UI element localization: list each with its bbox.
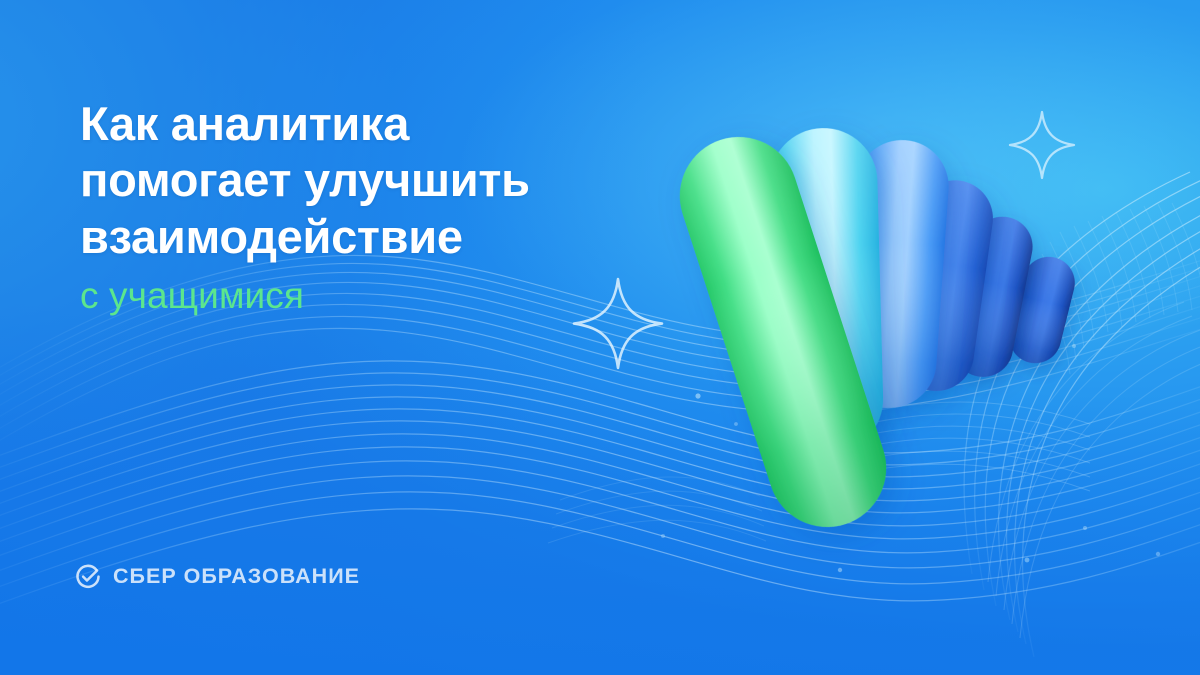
page-title: Как аналитика помогает улучшить взаимоде… xyxy=(80,96,640,265)
title-line-1: Как аналитика xyxy=(80,96,640,152)
page-subtitle: с учащимися xyxy=(80,275,640,318)
promo-banner: Как аналитика помогает улучшить взаимоде… xyxy=(0,0,1200,675)
headline-block: Как аналитика помогает улучшить взаимоде… xyxy=(80,96,640,318)
title-line-3: взаимодействие xyxy=(80,209,640,265)
title-line-2: помогает улучшить xyxy=(80,152,640,208)
brand-logo: СБЕР ОБРАЗОВАНИЕ xyxy=(74,563,360,591)
brand-logo-text: СБЕР ОБРАЗОВАНИЕ xyxy=(113,566,360,588)
sber-check-circle-icon xyxy=(74,563,102,591)
four-point-star-icon-small xyxy=(1010,112,1074,178)
